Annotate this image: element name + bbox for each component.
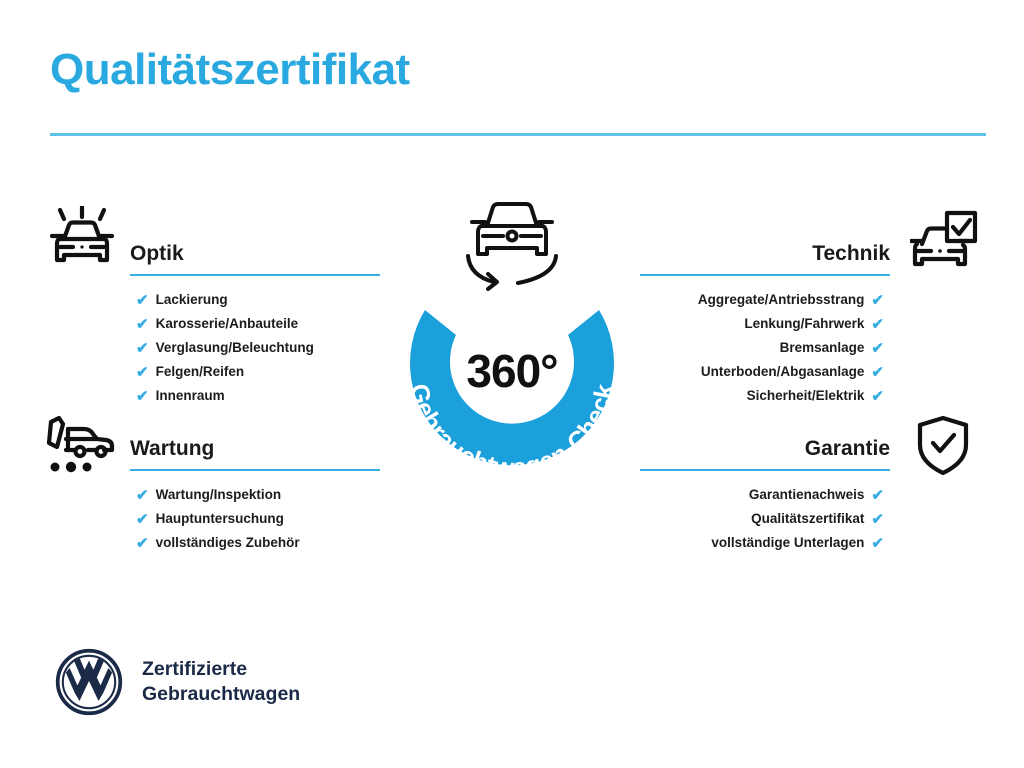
check-icon: ✔ xyxy=(871,488,884,503)
check-icon: ✔ xyxy=(871,536,884,551)
list-item: vollständige Unterlagen ✔ xyxy=(640,531,884,555)
list-item: Aggregate/Antriebsstrang ✔ xyxy=(640,288,884,312)
title-divider xyxy=(50,133,986,136)
shield-check-icon xyxy=(916,415,970,482)
car-shine-icon xyxy=(46,206,118,277)
section-header: Optik xyxy=(130,240,380,274)
list-item-label: Karosserie/Anbauteile xyxy=(156,312,299,336)
car-dipstick-oil-icon xyxy=(46,416,122,481)
list-item-label: Bremsanlage xyxy=(780,336,865,360)
car-checkbox-icon xyxy=(910,210,980,277)
list-item-label: vollständige Unterlagen xyxy=(711,531,864,555)
list-item-label: Innenraum xyxy=(156,384,225,408)
section-header: Garantie xyxy=(640,435,890,469)
list-item: Unterboden/Abgasanlage ✔ xyxy=(640,360,884,384)
page-title: Qualitätszertifikat xyxy=(50,47,410,93)
vw-wordmark-line2: Gebrauchtwagen xyxy=(142,682,300,707)
list-item: ✔ Verglasung/Beleuchtung xyxy=(136,336,380,360)
check-icon: ✔ xyxy=(871,512,884,527)
badge-center-text: 360° xyxy=(378,348,646,394)
check-icon: ✔ xyxy=(136,317,149,332)
list-item-label: Aggregate/Antriebsstrang xyxy=(698,288,865,312)
list-item: ✔ Lackierung xyxy=(136,288,380,312)
section-title: Technik xyxy=(640,240,890,268)
check-icon: ✔ xyxy=(136,389,149,404)
section-title: Garantie xyxy=(640,435,890,463)
check-icon: ✔ xyxy=(871,317,884,332)
section-header: Wartung xyxy=(130,435,380,469)
list-item: ✔ vollständiges Zubehör xyxy=(136,531,380,555)
list-item: ✔ Karosserie/Anbauteile xyxy=(136,312,380,336)
list-item-label: Hauptuntersuchung xyxy=(156,507,284,531)
section-divider xyxy=(130,469,380,471)
check-icon: ✔ xyxy=(136,488,149,503)
qualitaetszertifikat-page: Qualitätszertifikat xyxy=(0,0,1024,768)
check-icon: ✔ xyxy=(871,341,884,356)
section-title: Wartung xyxy=(130,435,380,463)
check-icon: ✔ xyxy=(136,536,149,551)
section-wartung: Wartung ✔ Wartung/Inspektion ✔ Hauptunte… xyxy=(130,435,380,555)
vw-logo xyxy=(55,648,123,716)
checklist: ✔ Lackierung ✔ Karosserie/Anbauteile ✔ V… xyxy=(130,288,380,408)
list-item: ✔ Innenraum xyxy=(136,384,380,408)
check-icon: ✔ xyxy=(136,512,149,527)
vw-wordmark: Zertifizierte Gebrauchtwagen xyxy=(142,657,300,707)
section-optik: Optik ✔ Lackierung ✔ Karosserie/Anbautei… xyxy=(130,240,380,408)
vw-wordmark-line1: Zertifizierte xyxy=(142,657,300,682)
check-icon: ✔ xyxy=(136,293,149,308)
list-item: ✔ Felgen/Reifen xyxy=(136,360,380,384)
list-item: Qualitätszertifikat ✔ xyxy=(640,507,884,531)
checklist: ✔ Wartung/Inspektion ✔ Hauptuntersuchung… xyxy=(130,483,380,555)
list-item-label: Felgen/Reifen xyxy=(156,360,245,384)
list-item-label: Sicherheit/Elektrik xyxy=(747,384,865,408)
section-divider xyxy=(640,469,890,471)
section-header: Technik xyxy=(640,240,890,274)
gebrauchtwagen-check-badge: Gebrauchtwagen-Check 360° xyxy=(378,196,646,484)
vw-footer: Zertifizierte Gebrauchtwagen xyxy=(55,648,300,716)
list-item-label: Unterboden/Abgasanlage xyxy=(701,360,865,384)
list-item-label: Qualitätszertifikat xyxy=(751,507,864,531)
list-item: ✔ Hauptuntersuchung xyxy=(136,507,380,531)
list-item: Garantienachweis ✔ xyxy=(640,483,884,507)
section-divider xyxy=(640,274,890,276)
check-icon: ✔ xyxy=(871,389,884,404)
section-title: Optik xyxy=(130,240,380,268)
checklist: Garantienachweis ✔ Qualitätszertifikat ✔… xyxy=(640,483,890,555)
check-icon: ✔ xyxy=(136,341,149,356)
list-item: Sicherheit/Elektrik ✔ xyxy=(640,384,884,408)
list-item: Lenkung/Fahrwerk ✔ xyxy=(640,312,884,336)
list-item-label: vollständiges Zubehör xyxy=(156,531,300,555)
check-icon: ✔ xyxy=(136,365,149,380)
list-item-label: Garantienachweis xyxy=(749,483,865,507)
list-item: ✔ Wartung/Inspektion xyxy=(136,483,380,507)
list-item-label: Wartung/Inspektion xyxy=(156,483,282,507)
list-item-label: Verglasung/Beleuchtung xyxy=(156,336,314,360)
section-garantie: Garantie Garantienachweis ✔ Qualitätszer… xyxy=(640,435,890,555)
list-item-label: Lenkung/Fahrwerk xyxy=(744,312,864,336)
check-icon: ✔ xyxy=(871,365,884,380)
checklist: Aggregate/Antriebsstrang ✔ Lenkung/Fahrw… xyxy=(640,288,890,408)
section-divider xyxy=(130,274,380,276)
section-technik: Technik Aggregate/Antriebsstrang ✔ Lenku… xyxy=(640,240,890,408)
list-item-label: Lackierung xyxy=(156,288,228,312)
list-item: Bremsanlage ✔ xyxy=(640,336,884,360)
check-icon: ✔ xyxy=(871,293,884,308)
